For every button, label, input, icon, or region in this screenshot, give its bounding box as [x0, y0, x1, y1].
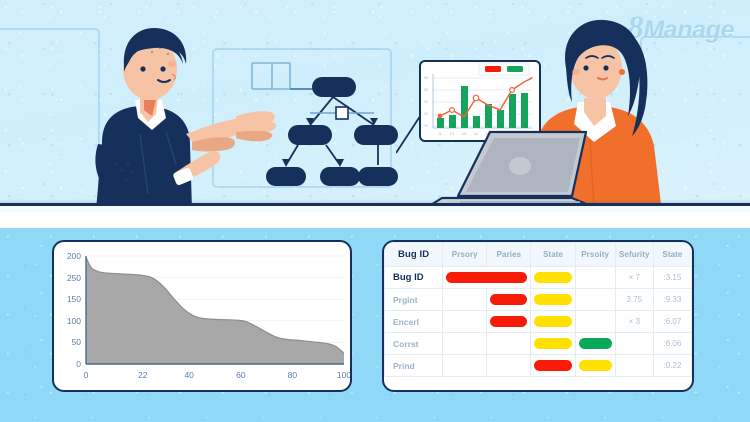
table-row[interactable]: Prgint3.75:9.33: [385, 289, 692, 311]
table-row-label: Prgint: [385, 289, 443, 311]
diagram-node-leaf-2: [320, 167, 360, 186]
table-cell-empty: [615, 333, 653, 355]
status-pill-cell[interactable]: [575, 333, 615, 355]
status-pill-cell[interactable]: [531, 333, 575, 355]
person-man-presenting: [40, 14, 310, 212]
x-tick-label: 40: [184, 370, 193, 380]
table-cell-value: :6.06: [653, 333, 691, 355]
table-cell-value: :6.07: [653, 311, 691, 333]
table-cell-value: × 7: [615, 267, 653, 289]
laptop: [420, 120, 620, 210]
x-tick-label: 22: [138, 370, 147, 380]
svg-text:60: 60: [424, 76, 428, 80]
table-row[interactable]: Corrst:6.06: [385, 333, 692, 355]
desk-surface: [0, 203, 750, 212]
table-row-label: Corrst: [385, 333, 443, 355]
table-cell-empty: [615, 355, 653, 377]
table-header: Bug IDPrsoryPariesStatePrsoitySefuritySt…: [385, 243, 692, 267]
table-cell-value: :0.22: [653, 355, 691, 377]
y-tick-label: 250: [54, 273, 81, 283]
table-cell-value: :9.33: [653, 289, 691, 311]
svg-text:40: 40: [424, 100, 428, 104]
table-row-label: Encerl: [385, 311, 443, 333]
table-cell-empty: [487, 333, 531, 355]
table-row[interactable]: Encerl× 3:6.07: [385, 311, 692, 333]
table-column-header[interactable]: Prsoity: [575, 243, 615, 267]
bug-table-card: Bug IDPrsoryPariesStatePrsoitySefuritySt…: [382, 240, 694, 392]
table-row-label: Prind: [385, 355, 443, 377]
table-cell-empty: [443, 311, 487, 333]
x-tick-label: 80: [288, 370, 297, 380]
table-cell-empty: [487, 355, 531, 377]
table-body: Bug ID× 7:3.15Prgint3.75:9.33Encerl× 3:6…: [385, 267, 692, 377]
screenshot-root: 8Manage: [0, 0, 750, 422]
x-tick-label: 0: [84, 370, 89, 380]
area-chart-plot: [54, 242, 352, 390]
hero-illustration: 8Manage: [0, 0, 750, 212]
table-row[interactable]: Prind:0.22: [385, 355, 692, 377]
diagram-node-leaf-3: [358, 167, 398, 186]
status-pill-cell[interactable]: [487, 289, 531, 311]
table-cell-empty: [575, 267, 615, 289]
table-row-label: Bug ID: [385, 267, 443, 289]
table-column-header[interactable]: State: [653, 243, 691, 267]
status-pill-cell[interactable]: [531, 311, 575, 333]
x-tick-label: 100: [337, 370, 351, 380]
y-tick-label: 100: [54, 316, 81, 326]
table-cell-value: :3.15: [653, 267, 691, 289]
status-pill-red[interactable]: [534, 360, 571, 371]
y-tick-label: 50: [54, 337, 81, 347]
table-cell-empty: [443, 289, 487, 311]
y-tick-label: 0: [54, 359, 81, 369]
status-pill-cell[interactable]: [443, 267, 531, 289]
x-tick-label: 60: [236, 370, 245, 380]
status-pill-yellow[interactable]: [534, 294, 571, 305]
area-chart-card: 200250150100500 022406080100: [52, 240, 352, 392]
table-header-row: Bug IDPrsoryPariesStatePrsoitySefuritySt…: [385, 243, 692, 267]
table-cell-value: 3.75: [615, 289, 653, 311]
table-column-header[interactable]: Prsory: [443, 243, 487, 267]
status-pill-cell[interactable]: [531, 289, 575, 311]
status-pill-cell[interactable]: [575, 355, 615, 377]
svg-text:30: 30: [424, 112, 428, 116]
area-chart: 200250150100500 022406080100: [54, 242, 350, 390]
status-pill-green[interactable]: [579, 338, 612, 349]
diagram-node-root: [312, 77, 356, 97]
table-cell-empty: [443, 333, 487, 355]
table-cell-empty: [575, 311, 615, 333]
y-tick-label: 200: [54, 251, 81, 261]
diagram-connector-node: [336, 107, 348, 119]
table-column-header[interactable]: Sefurity: [615, 243, 653, 267]
status-pill-yellow[interactable]: [534, 272, 571, 283]
status-pill-red[interactable]: [490, 294, 527, 305]
status-pill-cell[interactable]: [531, 355, 575, 377]
band-divider: [0, 212, 750, 228]
svg-text:50: 50: [424, 88, 428, 92]
status-pill-cell[interactable]: [531, 267, 575, 289]
status-pill-yellow[interactable]: [534, 316, 571, 327]
table-cell-empty: [443, 355, 487, 377]
status-pill-cell[interactable]: [487, 311, 531, 333]
table-cell-empty: [575, 289, 615, 311]
status-pill-red[interactable]: [490, 316, 527, 327]
table-column-header[interactable]: State: [531, 243, 575, 267]
bug-table: Bug IDPrsoryPariesStatePrsoitySefuritySt…: [384, 242, 692, 377]
table-column-header[interactable]: Bug ID: [385, 243, 443, 267]
status-pill-red[interactable]: [446, 272, 527, 283]
y-tick-label: 150: [54, 294, 81, 304]
table-column-header[interactable]: Paries: [487, 243, 531, 267]
diagram-node-mid-2: [354, 125, 398, 145]
table-cell-value: × 3: [615, 311, 653, 333]
status-pill-yellow[interactable]: [534, 338, 571, 349]
table-row[interactable]: Bug ID× 7:3.15: [385, 267, 692, 289]
status-pill-yellow[interactable]: [579, 360, 612, 371]
